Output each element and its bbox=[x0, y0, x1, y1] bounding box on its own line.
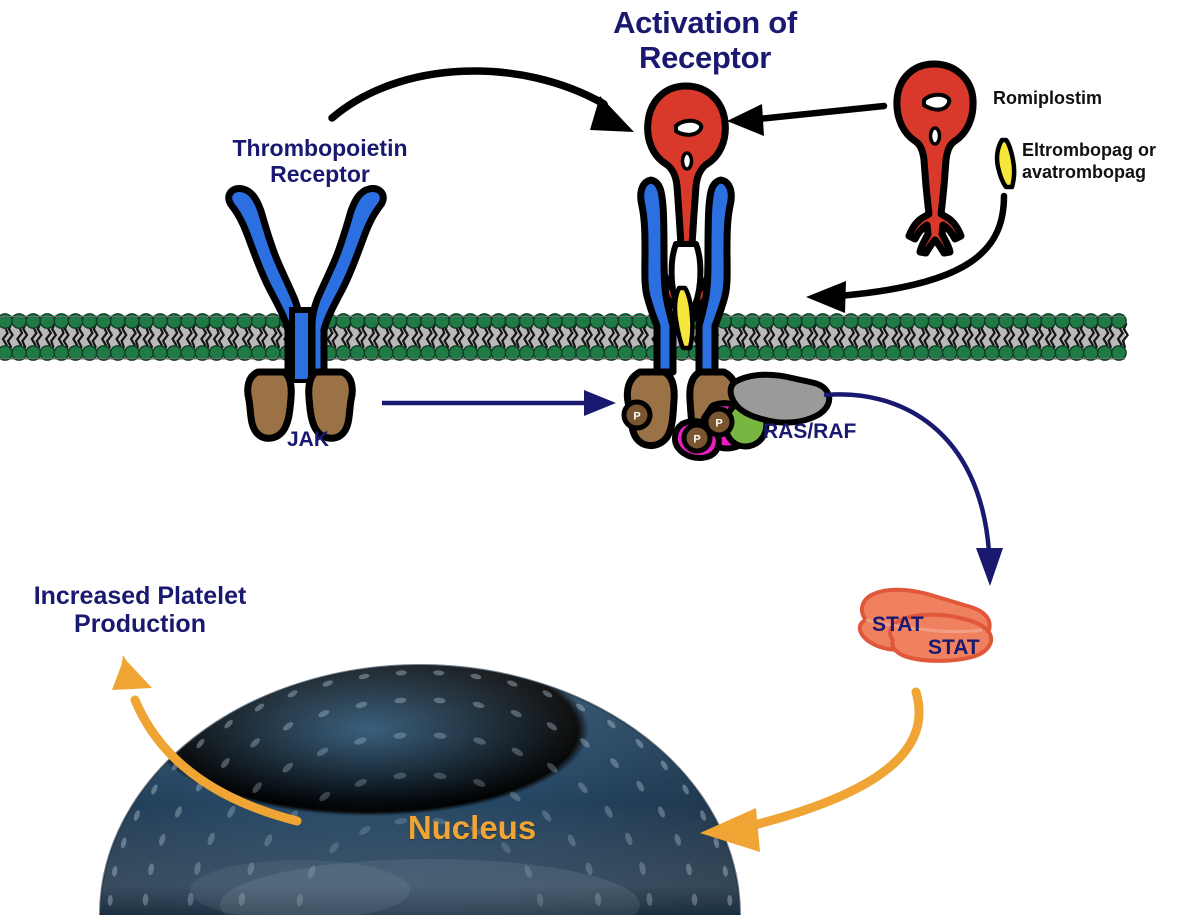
eltrombopag-label: Eltrombopag or avatrombopag bbox=[1022, 140, 1200, 183]
romiplostim-label: Romiplostim bbox=[993, 88, 1102, 108]
phosphate-letter-1: P bbox=[633, 411, 640, 423]
dimerization-arrow bbox=[332, 71, 634, 132]
diagram-artwork: P P P bbox=[0, 0, 1200, 915]
tpo-line1: Thrombopoietin bbox=[232, 135, 407, 161]
thrombopoietin-receptor-label: Thrombopoietin Receptor bbox=[205, 136, 435, 188]
increased-platelet-production-label: Increased Platelet Production bbox=[12, 582, 268, 638]
phosphate-letter-2: P bbox=[715, 418, 722, 430]
thrombopoietin-receptor-active: P P P bbox=[624, 86, 829, 458]
small-molecule-binding-arrow bbox=[806, 196, 1004, 313]
title-text: Activation of Receptor bbox=[613, 5, 797, 75]
eltrombopag-line2: avatrombopag bbox=[1022, 162, 1146, 182]
tpo-line2: Receptor bbox=[270, 161, 370, 187]
eltrombopag-line1: Eltrombopag or bbox=[1022, 140, 1156, 160]
stat-label-upper: STAT bbox=[872, 613, 924, 637]
thrombopoietin-receptor-inactive bbox=[229, 188, 383, 438]
ras-raf-blob bbox=[731, 375, 830, 423]
lipid-bilayer bbox=[0, 314, 1128, 360]
ipp-line2: Production bbox=[74, 610, 206, 638]
ipp-line1: Increased Platelet bbox=[34, 582, 247, 610]
phosphate-letter-3: P bbox=[693, 434, 700, 446]
nucleus-dome bbox=[100, 665, 740, 915]
nucleus-label: Nucleus bbox=[372, 810, 572, 847]
stat-label-lower: STAT bbox=[928, 636, 980, 660]
romiplostim-molecule bbox=[897, 64, 973, 253]
eltrombopag-molecule-bound bbox=[675, 288, 692, 348]
jak-activation-arrow bbox=[382, 390, 616, 416]
romiplostim-binding-arrow bbox=[727, 104, 884, 136]
stat-to-nucleus-arrow bbox=[700, 692, 919, 852]
jak-label: JAK bbox=[248, 428, 368, 452]
pathway-diagram: P P P bbox=[0, 0, 1200, 915]
ras-raf-label: RAS/RAF bbox=[763, 420, 856, 444]
eltrombopag-legend-icon bbox=[997, 140, 1014, 187]
page-title: Activation of Receptor bbox=[560, 6, 850, 75]
